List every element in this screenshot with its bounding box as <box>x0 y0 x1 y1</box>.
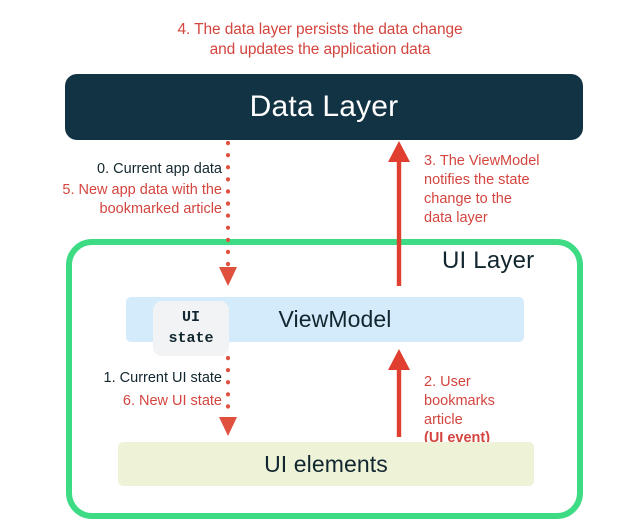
ui-layer-label: UI Layer <box>436 245 540 276</box>
data-layer-box: Data Layer <box>65 74 583 140</box>
data-layer-label: Data Layer <box>250 90 399 124</box>
annotation-step-2-plain: 2. User bookmarks article <box>424 374 495 428</box>
ui-elements-label: UI elements <box>264 451 388 478</box>
annotation-step-5: 5. New app data with the bookmarked arti… <box>10 181 222 219</box>
ui-state-chip-line2: state <box>168 329 213 349</box>
diagram-canvas: 4. The data layer persists the data chan… <box>0 0 640 532</box>
annotation-step-1: 1. Current UI state <box>10 369 222 388</box>
ui-state-chip: UI state <box>153 301 229 356</box>
annotation-step-3: 3. The ViewModel notifies the state chan… <box>424 152 584 227</box>
annotation-step-6: 6. New UI state <box>10 392 222 411</box>
annotation-step-0: 0. Current app data <box>10 160 222 179</box>
annotation-step-2: 2. User bookmarks article (UI event) <box>424 354 574 448</box>
viewmodel-label: ViewModel <box>279 306 392 333</box>
caption-step-4: 4. The data layer persists the data chan… <box>120 20 520 60</box>
ui-state-chip-line1: UI <box>182 308 200 328</box>
ui-elements-box: UI elements <box>118 442 534 486</box>
